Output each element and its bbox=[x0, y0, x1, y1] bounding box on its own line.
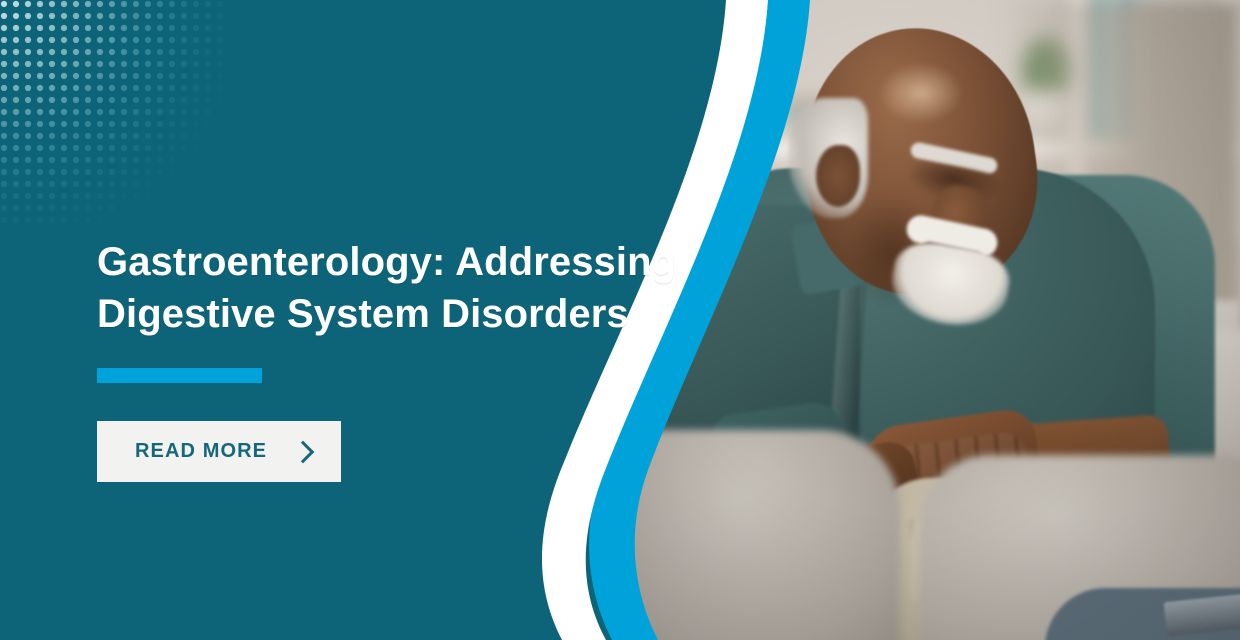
promo-banner: Gastroenterology: Addressing Digestive S… bbox=[0, 0, 1240, 640]
headline-line-1: Gastroenterology: Addressing bbox=[97, 240, 676, 284]
page-title: Gastroenterology: Addressing Digestive S… bbox=[97, 236, 717, 340]
read-more-label: READ MORE bbox=[135, 440, 267, 463]
chevron-right-icon bbox=[292, 440, 315, 463]
read-more-button[interactable]: READ MORE bbox=[97, 421, 341, 482]
halftone-dot-pattern bbox=[0, 0, 230, 230]
banner-content: Gastroenterology: Addressing Digestive S… bbox=[97, 236, 717, 482]
headline-line-2: Digestive System Disorders bbox=[97, 292, 629, 336]
accent-bar bbox=[97, 368, 262, 383]
